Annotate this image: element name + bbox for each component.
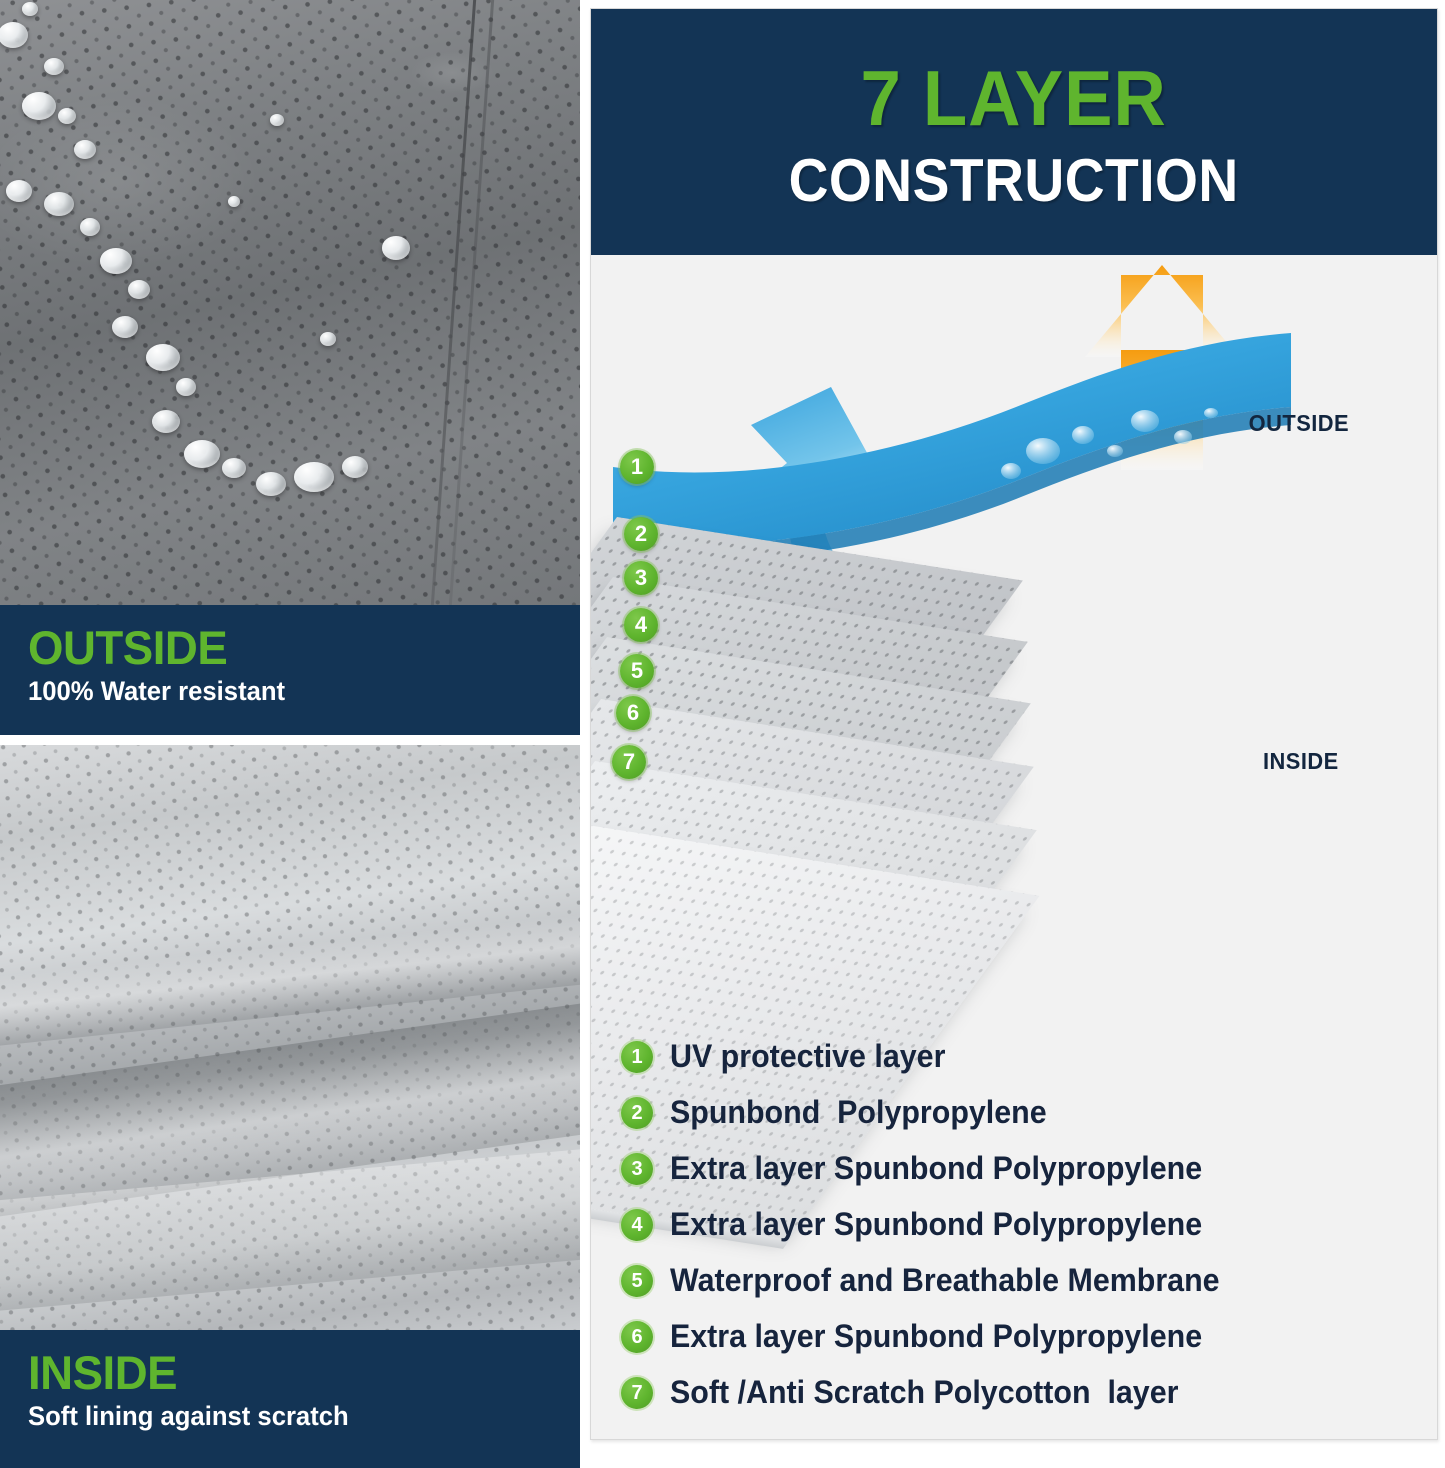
legend-badge-7: 7 <box>621 1377 653 1409</box>
header-title-construction: CONSTRUCTION <box>789 151 1239 211</box>
water-droplet-trail <box>0 0 270 640</box>
lining-perforation-texture <box>0 745 580 1424</box>
layer-stack-diagram: 1 2 3 4 5 6 7 OUTSIDE INSIDE <box>591 255 1437 1025</box>
legend-item-2: 2 Spunbond Polypropylene <box>617 1085 1437 1141</box>
layer-badge-4: 4 <box>624 608 658 642</box>
legend-label-4: Extra layer Spunbond Polypropylene <box>670 1207 1202 1242</box>
inside-photo-card: INSIDE Soft lining against scratch <box>0 745 580 1468</box>
legend-item-3: 3 Extra layer Spunbond Polypropylene <box>617 1141 1437 1197</box>
layer-badge-6: 6 <box>616 696 650 730</box>
layer-badge-5: 5 <box>620 654 654 688</box>
outside-fabric-photo <box>0 0 580 605</box>
outside-caption-band: OUTSIDE 100% Water resistant <box>0 605 580 735</box>
layer-badge-2: 2 <box>624 517 658 551</box>
layer-badge-1: 1 <box>620 450 654 484</box>
legend-badge-1: 1 <box>621 1041 653 1073</box>
legend-badge-6: 6 <box>621 1321 653 1353</box>
inside-caption-band: INSIDE Soft lining against scratch <box>0 1330 580 1468</box>
infographic-page: OUTSIDE 100% Water resistant INSIDE Soft… <box>0 0 1445 1468</box>
inside-fabric-photo <box>0 745 580 1330</box>
outside-caption-title: OUTSIDE <box>28 625 536 671</box>
diagram-label-inside: INSIDE <box>1263 748 1339 775</box>
legend-label-2: Spunbond Polypropylene <box>670 1095 1047 1130</box>
construction-panel: 7 LAYER CONSTRUCTION <box>590 8 1438 1440</box>
legend-badge-2: 2 <box>621 1097 653 1129</box>
outside-photo-card: OUTSIDE 100% Water resistant <box>0 0 580 735</box>
legend-badge-5: 5 <box>621 1265 653 1297</box>
diagram-label-outside: OUTSIDE <box>1249 410 1349 437</box>
layer-badge-7: 7 <box>612 745 646 779</box>
legend-label-3: Extra layer Spunbond Polypropylene <box>670 1151 1202 1186</box>
inside-caption-title: INSIDE <box>28 1350 536 1396</box>
layer-badge-3: 3 <box>624 561 658 595</box>
legend-badge-3: 3 <box>621 1153 653 1185</box>
legend-item-4: 4 Extra layer Spunbond Polypropylene <box>617 1197 1437 1253</box>
legend-label-7: Soft /Anti Scratch Polycotton layer <box>670 1375 1178 1410</box>
legend-item-5: 5 Waterproof and Breathable Membrane <box>617 1253 1437 1309</box>
header-title-layers: 7 LAYER <box>861 59 1167 137</box>
legend-item-7: 7 Soft /Anti Scratch Polycotton layer <box>617 1365 1437 1421</box>
inside-caption-subtitle: Soft lining against scratch <box>28 1402 526 1430</box>
outside-caption-subtitle: 100% Water resistant <box>28 677 526 705</box>
legend-item-6: 6 Extra layer Spunbond Polypropylene <box>617 1309 1437 1365</box>
left-photo-column: OUTSIDE 100% Water resistant INSIDE Soft… <box>0 0 580 1468</box>
legend-item-1: 1 UV protective layer <box>617 1029 1437 1085</box>
legend-label-1: UV protective layer <box>670 1039 945 1074</box>
legend-badge-4: 4 <box>621 1209 653 1241</box>
layer-legend-list: 1 UV protective layer 2 Spunbond Polypro… <box>591 1029 1437 1421</box>
legend-label-5: Waterproof and Breathable Membrane <box>670 1263 1220 1298</box>
legend-label-6: Extra layer Spunbond Polypropylene <box>670 1319 1202 1354</box>
panel-header: 7 LAYER CONSTRUCTION <box>591 9 1437 255</box>
